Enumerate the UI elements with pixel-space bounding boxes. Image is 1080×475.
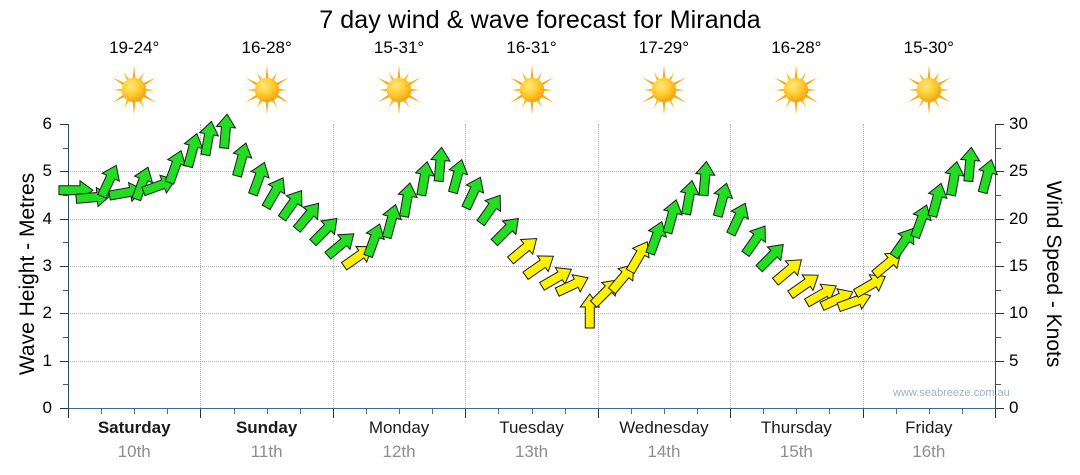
day-divider — [730, 124, 731, 408]
axis-tick-minor — [234, 409, 235, 414]
axis-tick-major — [60, 313, 68, 314]
temperature-range: 17-29° — [598, 38, 730, 58]
axis-tick-major — [995, 409, 996, 418]
day-header: 15-31° — [333, 38, 465, 116]
day-name-label: Tuesday — [466, 418, 598, 438]
axis-tick-label: 4 — [12, 209, 52, 229]
day-date-label: 12th — [333, 442, 465, 462]
axis-tick-minor — [134, 409, 135, 414]
axis-tick-minor — [63, 384, 68, 385]
axis-tick-minor — [697, 409, 698, 414]
axis-tick-minor — [267, 409, 268, 414]
day-name-label: Saturday — [68, 418, 200, 438]
axis-tick-minor — [996, 242, 1001, 243]
temperature-range: 15-31° — [333, 38, 465, 58]
axis-tick-major — [996, 171, 1004, 172]
day-name-label: Wednesday — [598, 418, 730, 438]
day-header: 16-28° — [201, 38, 333, 116]
axis-tick-major — [68, 409, 69, 418]
sun-icon — [770, 64, 822, 116]
axis-tick-label: 25 — [1009, 161, 1049, 181]
day-header: 17-29° — [598, 38, 730, 116]
axis-tick-major — [60, 361, 68, 362]
axis-tick-minor — [63, 337, 68, 338]
day-date-label: 10th — [68, 442, 200, 462]
day-footer: Thursday15th — [730, 418, 862, 462]
sun-icon — [638, 64, 690, 116]
temperature-range: 19-24° — [68, 38, 200, 58]
axis-tick-minor — [631, 409, 632, 414]
temperature-range: 15-30° — [863, 38, 995, 58]
gridline-horizontal — [68, 361, 995, 362]
axis-tick-minor — [996, 384, 1001, 385]
axis-tick-major — [200, 409, 201, 418]
axis-tick-minor — [167, 409, 168, 414]
sun-icon — [241, 64, 293, 116]
axis-tick-major — [60, 266, 68, 267]
axis-tick-minor — [796, 409, 797, 414]
axis-tick-minor — [996, 337, 1001, 338]
axis-tick-minor — [829, 409, 830, 414]
sun-icon — [373, 64, 425, 116]
forecast-chart-page: 7 day wind & wave forecast for Miranda W… — [0, 0, 1080, 475]
axis-tick-major — [996, 408, 1004, 409]
axis-tick-minor — [664, 409, 665, 414]
axis-tick-label: 15 — [1009, 256, 1049, 276]
day-footer: Friday16th — [863, 418, 995, 462]
axis-tick-label: 10 — [1009, 303, 1049, 323]
axis-tick-minor — [366, 409, 367, 414]
day-name-label: Sunday — [201, 418, 333, 438]
axis-tick-major — [465, 409, 466, 418]
axis-tick-minor — [63, 148, 68, 149]
day-date-label: 15th — [730, 442, 862, 462]
axis-tick-minor — [399, 409, 400, 414]
axis-tick-label: 20 — [1009, 209, 1049, 229]
axis-tick-label: 5 — [12, 161, 52, 181]
temperature-range: 16-28° — [201, 38, 333, 58]
axis-tick-minor — [896, 409, 897, 414]
day-date-label: 13th — [466, 442, 598, 462]
axis-tick-minor — [63, 242, 68, 243]
gridline-horizontal — [68, 313, 995, 314]
day-name-label: Thursday — [730, 418, 862, 438]
axis-tick-major — [863, 409, 864, 418]
day-name-label: Monday — [333, 418, 465, 438]
axis-tick-major — [730, 409, 731, 418]
axis-tick-major — [996, 219, 1004, 220]
axis-tick-minor — [498, 409, 499, 414]
day-divider — [598, 124, 599, 408]
axis-tick-major — [598, 409, 599, 418]
axis-tick-major — [60, 124, 68, 125]
axis-tick-minor — [996, 290, 1001, 291]
sun-icon — [903, 64, 955, 116]
axis-tick-label: 0 — [12, 398, 52, 418]
axis-tick-minor — [565, 409, 566, 414]
day-header: 16-31° — [466, 38, 598, 116]
axis-tick-minor — [962, 409, 963, 414]
axis-tick-minor — [763, 409, 764, 414]
axis-tick-label: 5 — [1009, 351, 1049, 371]
axis-tick-major — [60, 408, 68, 409]
day-footer: Wednesday14th — [598, 418, 730, 462]
day-divider — [200, 124, 201, 408]
day-date-label: 11th — [201, 442, 333, 462]
day-date-label: 14th — [598, 442, 730, 462]
day-header: 19-24° — [68, 38, 200, 116]
day-divider — [863, 124, 864, 408]
axis-tick-label: 2 — [12, 303, 52, 323]
axis-tick-label: 30 — [1009, 114, 1049, 134]
gridline-horizontal — [68, 266, 995, 267]
day-footer: Sunday11th — [201, 418, 333, 462]
axis-tick-major — [996, 361, 1004, 362]
axis-tick-minor — [929, 409, 930, 414]
day-date-label: 16th — [863, 442, 995, 462]
day-footer: Monday12th — [333, 418, 465, 462]
day-footer: Tuesday13th — [466, 418, 598, 462]
temperature-range: 16-31° — [466, 38, 598, 58]
sun-icon — [108, 64, 160, 116]
axis-tick-label: 3 — [12, 256, 52, 276]
axis-tick-minor — [996, 148, 1001, 149]
axis-tick-label: 0 — [1009, 398, 1049, 418]
axis-tick-minor — [300, 409, 301, 414]
axis-tick-minor — [63, 290, 68, 291]
axis-tick-major — [996, 266, 1004, 267]
temperature-range: 16-28° — [730, 38, 862, 58]
axis-tick-major — [996, 313, 1004, 314]
axis-tick-label: 6 — [12, 114, 52, 134]
sun-icon — [506, 64, 558, 116]
day-header: 16-28° — [730, 38, 862, 116]
axis-tick-minor — [432, 409, 433, 414]
day-divider — [465, 124, 466, 408]
axis-tick-major — [60, 171, 68, 172]
axis-tick-major — [333, 409, 334, 418]
axis-tick-minor — [101, 409, 102, 414]
day-name-label: Friday — [863, 418, 995, 438]
axis-tick-minor — [996, 195, 1001, 196]
axis-tick-major — [996, 124, 1004, 125]
axis-tick-minor — [532, 409, 533, 414]
axis-tick-label: 1 — [12, 351, 52, 371]
axis-tick-minor — [63, 195, 68, 196]
gridline-horizontal — [68, 219, 995, 220]
day-header: 15-30° — [863, 38, 995, 116]
site-watermark: www.seabreeze.com.au — [893, 387, 1010, 399]
axis-tick-major — [60, 219, 68, 220]
day-divider — [333, 124, 334, 408]
gridline-horizontal — [68, 171, 995, 172]
day-footer: Saturday10th — [68, 418, 200, 462]
page-title: 7 day wind & wave forecast for Miranda — [0, 6, 1080, 35]
left-axis-line — [68, 124, 69, 409]
plot-area — [68, 124, 995, 408]
